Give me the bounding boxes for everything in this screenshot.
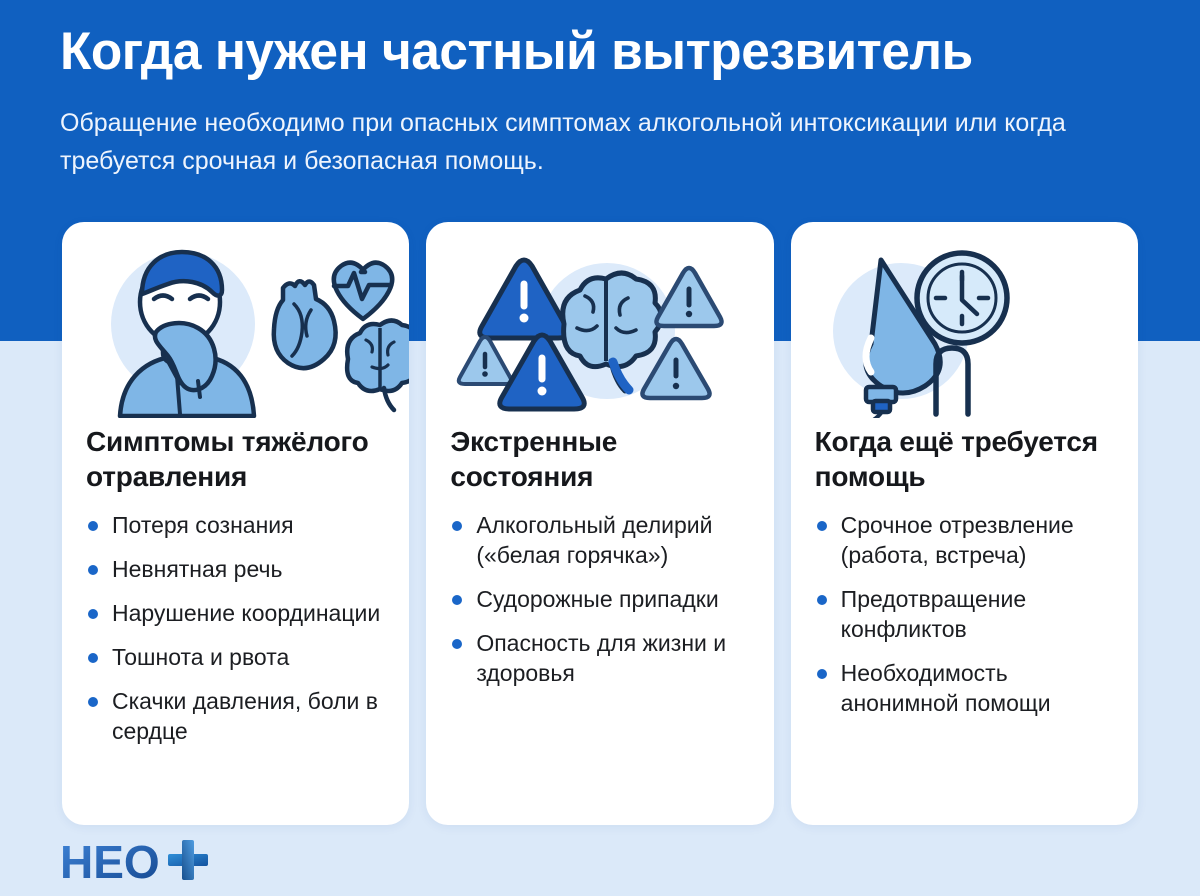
card-heading: Симптомы тяжёлого отравления [86,424,387,494]
logo-plus-vertical [182,840,194,880]
card-body: Экстренные состояния Алкогольный делирий… [426,418,773,706]
list-item: Тошнота и рвота [86,642,387,672]
brain-icon [347,321,409,411]
list-item: Скачки давления, боли в сердце [86,686,387,746]
logo-text: НЕО [60,838,160,884]
bullet-dot-icon [817,521,827,531]
clock-icon [917,253,1007,343]
list-item-label: Опасность для жизни и здоровья [476,630,726,686]
bullet-dot-icon [88,609,98,619]
list-item: Необходимость анонимной помощи [815,658,1116,718]
bullet-dot-icon [817,669,827,679]
list-item-label: Потеря сознания [112,512,294,538]
bullet-list: Алкогольный делирий («белая горячка») Су… [450,510,751,688]
card-emergency-states: Экстренные состояния Алкогольный делирий… [426,222,773,825]
list-item: Судорожные припадки [450,584,751,614]
list-item: Потеря сознания [86,510,387,540]
list-item-label: Срочное отрезвление (работа, встреча) [841,512,1074,568]
list-item: Невнятная речь [86,554,387,584]
bullet-dot-icon [88,565,98,575]
list-item: Опасность для жизни и здоровья [450,628,751,688]
bullet-dot-icon [452,521,462,531]
card-body: Когда ещё требуется помощь Срочное отрез… [791,418,1138,736]
card-severe-poisoning: Симптомы тяжёлого отравления Потеря созн… [62,222,409,825]
bullet-list: Потеря сознания Невнятная речь Нарушение… [86,510,387,746]
list-item-label: Скачки давления, боли в сердце [112,688,378,744]
neo-plus-logo: НЕО [60,838,250,884]
list-item: Нарушение координации [86,598,387,628]
list-item-label: Судорожные припадки [476,586,718,612]
list-item: Предотвращение конфликтов [815,584,1116,644]
bullet-dot-icon [452,639,462,649]
bullet-dot-icon [88,653,98,663]
iv-drip-clock-illustration [791,222,1138,418]
list-item-label: Тошнота и рвота [112,644,289,670]
nauseous-man-heart-brain-illustration [62,222,409,418]
list-item: Срочное отрезвление (работа, встреча) [815,510,1116,570]
list-item: Алкогольный делирий («белая горячка») [450,510,751,570]
list-item-label: Предотвращение конфликтов [841,586,1026,642]
warning-triangle-icon [459,337,511,384]
card-heading: Экстренные состояния [450,424,751,494]
page-subtitle: Обращение необходимо при опасных симптом… [60,104,1070,180]
bullet-list: Срочное отрезвление (работа, встреча) Пр… [815,510,1116,718]
list-item-label: Необходимость анонимной помощи [841,660,1051,716]
bullet-dot-icon [817,595,827,605]
heartbeat-heart-icon [334,263,392,319]
bullet-dot-icon [88,521,98,531]
page-title: Когда нужен частный вытрезвитель [60,22,1108,82]
heart-anatomy-icon [274,281,336,368]
list-item-label: Невнятная речь [112,556,282,582]
card-body: Симптомы тяжёлого отравления Потеря созн… [62,418,409,764]
warning-triangle-icon [657,268,722,326]
list-item-label: Алкогольный делирий («белая горячка») [476,512,712,568]
list-item-label: Нарушение координации [112,600,380,626]
bullet-dot-icon [452,595,462,605]
brain-with-warning-triangles-illustration [426,222,773,418]
cards-row: Симптомы тяжёлого отравления Потеря созн… [62,222,1138,825]
card-heading: Когда ещё требуется помощь [815,424,1116,494]
bullet-dot-icon [88,697,98,707]
card-when-else-help-needed: Когда ещё требуется помощь Срочное отрез… [791,222,1138,825]
